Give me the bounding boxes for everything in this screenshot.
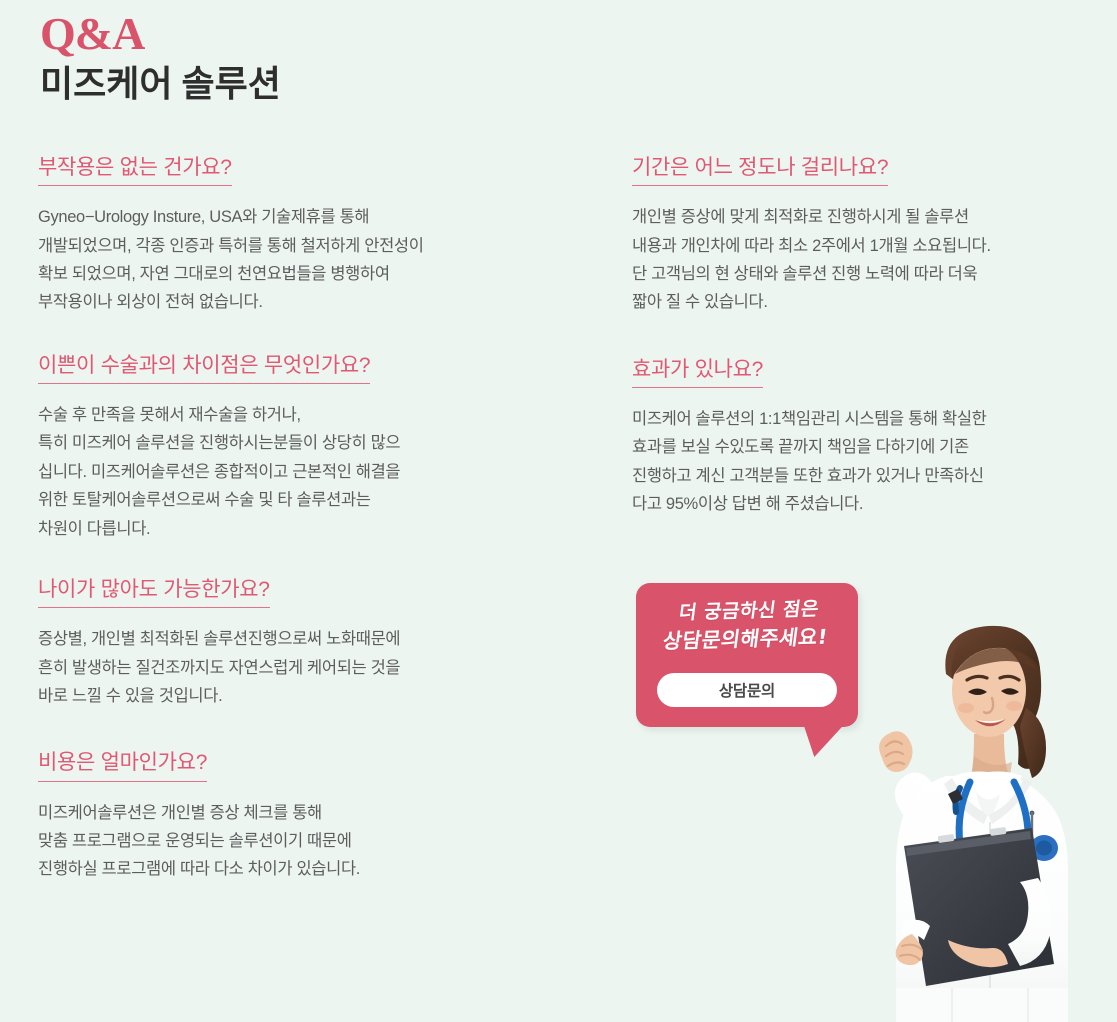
- faq-answer: 미즈케어 솔루션의 1:1책임관리 시스템을 통해 확실한 효과를 보실 수있도…: [632, 405, 1092, 519]
- answer-line: 단 고객님의 현 상태와 솔루션 진행 노력에 따라 더욱: [632, 260, 1092, 288]
- faq-answer: 증상별, 개인별 최적화된 솔루션진행으로써 노화때문에 흔히 발생하는 질건조…: [38, 625, 538, 710]
- faq-item: 효과가 있나요? 미즈케어 솔루션의 1:1책임관리 시스템을 통해 확실한 효…: [632, 357, 1092, 519]
- answer-line: Gyneo−Urology Insture, USA와 기술제휴를 통해: [38, 203, 538, 231]
- answer-line: 특히 미즈케어 솔루션을 진행하시는분들이 상당히 많으: [38, 429, 538, 457]
- faq-answer: 수술 후 만족을 못해서 재수술을 하거나, 특히 미즈케어 솔루션을 진행하시…: [38, 401, 538, 543]
- faq-column-right: 기간은 어느 정도나 걸리나요? 개인별 증상에 맞게 최적화로 진행하시게 될…: [632, 155, 1092, 553]
- qa-page: Q&A 미즈케어 솔루션 부작용은 없는 건가요? Gyneo−Urology …: [0, 0, 1117, 1022]
- answer-line: 진행하실 프로그램에 따라 다소 차이가 있습니다.: [38, 855, 538, 883]
- page-title: 미즈케어 솔루션: [40, 62, 281, 107]
- faq-question[interactable]: 효과가 있나요?: [632, 357, 763, 388]
- answer-line: 맞춤 프로그램으로 운영되는 솔루션이기 때문에: [38, 827, 538, 855]
- answer-line: 확보 되었으며, 자연 그대로의 천연요법들을 병행하여: [38, 260, 538, 288]
- cta-bubble-line-2: 상담문의해주세요!: [632, 622, 859, 657]
- faq-answer: Gyneo−Urology Insture, USA와 기술제휴를 통해 개발되…: [38, 203, 538, 317]
- cta-bubble-text: 더 궁금하신 점은 상담문의해주세요!: [632, 595, 862, 657]
- answer-line: 흔히 발생하는 질건조까지도 자연스럽게 케어되는 것을: [38, 654, 538, 682]
- answer-line: 내용과 개인차에 따라 최소 2주에서 1개월 소요됩니다.: [632, 232, 1092, 260]
- speech-bubble-tail-icon: [800, 725, 843, 757]
- faq-answer: 미즈케어솔루션은 개인별 증상 체크를 통해 맞춤 프로그램으로 운영되는 솔루…: [38, 799, 538, 884]
- answer-line: 개발되었으며, 각종 인증과 특허를 통해 철저하게 안전성이: [38, 232, 538, 260]
- faq-question[interactable]: 나이가 많아도 가능한가요?: [38, 577, 270, 608]
- faq-question[interactable]: 이쁜이 수술과의 차이점은 무엇인가요?: [38, 353, 370, 384]
- answer-line: 짧아 질 수 있습니다.: [632, 288, 1092, 316]
- page-header: Q&A 미즈케어 솔루션: [40, 10, 281, 107]
- qa-logo: Q&A: [40, 10, 281, 58]
- faq-item: 비용은 얼마인가요? 미즈케어솔루션은 개인별 증상 체크를 통해 맞춤 프로그…: [38, 750, 538, 883]
- answer-line: 바로 느낄 수 있을 것입니다.: [38, 682, 538, 710]
- faq-item: 나이가 많아도 가능한가요? 증상별, 개인별 최적화된 솔루션진행으로써 노화…: [38, 577, 538, 710]
- answer-line: 증상별, 개인별 최적화된 솔루션진행으로써 노화때문에: [38, 625, 538, 653]
- answer-line: 미즈케어솔루션은 개인별 증상 체크를 통해: [38, 799, 538, 827]
- faq-question[interactable]: 부작용은 없는 건가요?: [38, 155, 232, 186]
- faq-item: 부작용은 없는 건가요? Gyneo−Urology Insture, USA와…: [38, 155, 538, 317]
- answer-line: 미즈케어 솔루션의 1:1책임관리 시스템을 통해 확실한: [632, 405, 1092, 433]
- cta-bubble-wrapper: 더 궁금하신 점은 상담문의해주세요! 상담문의: [636, 583, 858, 727]
- answer-line: 개인별 증상에 맞게 최적화로 진행하시게 될 솔루션: [632, 203, 1092, 231]
- answer-line: 위한 토탈케어솔루션으로써 수술 및 타 솔루션과는: [38, 486, 538, 514]
- cta-speech-bubble: 더 궁금하신 점은 상담문의해주세요! 상담문의: [636, 583, 858, 727]
- consult-button[interactable]: 상담문의: [657, 673, 837, 707]
- faq-item: 이쁜이 수술과의 차이점은 무엇인가요? 수술 후 만족을 못해서 재수술을 하…: [38, 353, 538, 543]
- answer-line: 부작용이나 외상이 전혀 없습니다.: [38, 288, 538, 316]
- answer-line: 효과를 보실 수있도록 끝까지 책임을 다하기에 기존: [632, 433, 1092, 461]
- faq-item: 기간은 어느 정도나 걸리나요? 개인별 증상에 맞게 최적화로 진행하시게 될…: [632, 155, 1092, 317]
- faq-question[interactable]: 비용은 얼마인가요?: [38, 750, 207, 781]
- faq-column-left: 부작용은 없는 건가요? Gyneo−Urology Insture, USA와…: [38, 155, 538, 918]
- faq-answer: 개인별 증상에 맞게 최적화로 진행하시게 될 솔루션 내용과 개인차에 따라 …: [632, 203, 1092, 317]
- answer-line: 진행하고 계신 고객분들 또한 효과가 있거나 만족하신: [632, 462, 1092, 490]
- female-doctor-photo: [842, 616, 1117, 1022]
- answer-line: 십니다. 미즈케어솔루션은 종합적이고 근본적인 해결을: [38, 458, 538, 486]
- answer-line: 다고 95%이상 답변 해 주셨습니다.: [632, 490, 1092, 518]
- faq-question[interactable]: 기간은 어느 정도나 걸리나요?: [632, 155, 888, 186]
- answer-line: 수술 후 만족을 못해서 재수술을 하거나,: [38, 401, 538, 429]
- answer-line: 차원이 다릅니다.: [38, 515, 538, 543]
